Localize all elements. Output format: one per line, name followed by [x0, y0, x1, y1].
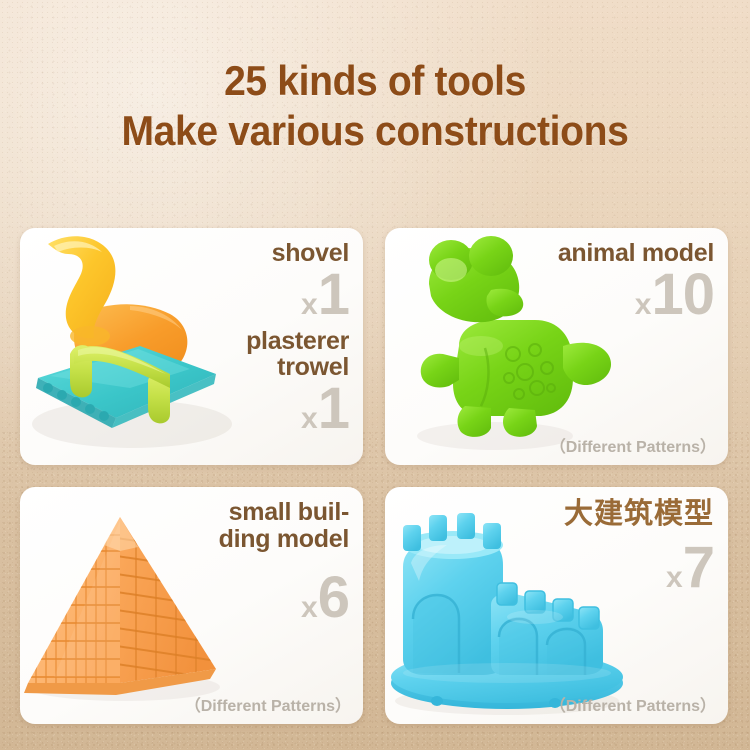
dinosaur-leg-front — [458, 406, 491, 437]
qty-multiplier: x — [635, 288, 652, 321]
qty-multiplier: x — [301, 288, 318, 321]
dinosaur-body — [453, 320, 573, 416]
card-large-building-model-text: 大建筑模型 x7 — [509, 499, 714, 595]
item-qty-trowel: x1 — [144, 381, 349, 436]
card-animal-model-text: animal model x10 — [509, 240, 714, 322]
qty-number: 6 — [318, 565, 349, 630]
note-different-patterns: （Different Patterns） — [185, 692, 351, 716]
card-large-building-model: 大建筑模型 x7 （Different Patterns） — [385, 487, 728, 724]
dinosaur-tail — [563, 343, 611, 385]
qty-number: 1 — [318, 262, 349, 327]
dinosaur-leg-back — [503, 408, 537, 437]
qty-number: 7 — [683, 535, 714, 600]
card-animal-model: animal model x10 （Different Patterns） — [385, 228, 728, 465]
product-card-grid: shovel x1 plasterer trowel x1 — [20, 228, 728, 724]
item-name-small-building-line1: small buil- — [144, 499, 349, 526]
product-feature-poster: 25 kinds of tools Make various construct… — [0, 0, 750, 750]
dinosaur-arm — [421, 354, 459, 388]
item-name-trowel-line1: plasterer — [144, 328, 349, 355]
headline-line-1: 25 kinds of tools — [26, 56, 724, 106]
item-name-large-building: 大建筑模型 — [509, 499, 714, 530]
dinosaur-ear-right — [469, 236, 513, 276]
qty-multiplier: x — [301, 402, 318, 435]
item-qty-large-building: x7 — [509, 540, 714, 595]
note-different-patterns: （Different Patterns） — [550, 433, 716, 457]
item-qty-small-building: x6 — [144, 570, 349, 625]
note-different-patterns: （Different Patterns） — [550, 692, 716, 716]
item-name-small-building-line2: ding model — [144, 526, 349, 553]
qty-number: 10 — [651, 262, 714, 327]
card-shovel-trowel-text: shovel x1 plasterer trowel x1 — [144, 240, 349, 436]
item-qty-shovel: x1 — [144, 267, 349, 322]
card-small-building-model-text: small buil- ding model x6 — [144, 499, 349, 625]
card-small-building-model: small buil- ding model x6 （Different Pat… — [20, 487, 363, 724]
qty-multiplier: x — [666, 561, 683, 594]
qty-multiplier: x — [301, 591, 318, 624]
qty-number: 1 — [318, 376, 349, 441]
card-shovel-trowel: shovel x1 plasterer trowel x1 — [20, 228, 363, 465]
item-qty-animal-model: x10 — [509, 267, 714, 322]
headline-line-2: Make various constructions — [26, 106, 724, 156]
page-title: 25 kinds of tools Make various construct… — [0, 56, 750, 155]
